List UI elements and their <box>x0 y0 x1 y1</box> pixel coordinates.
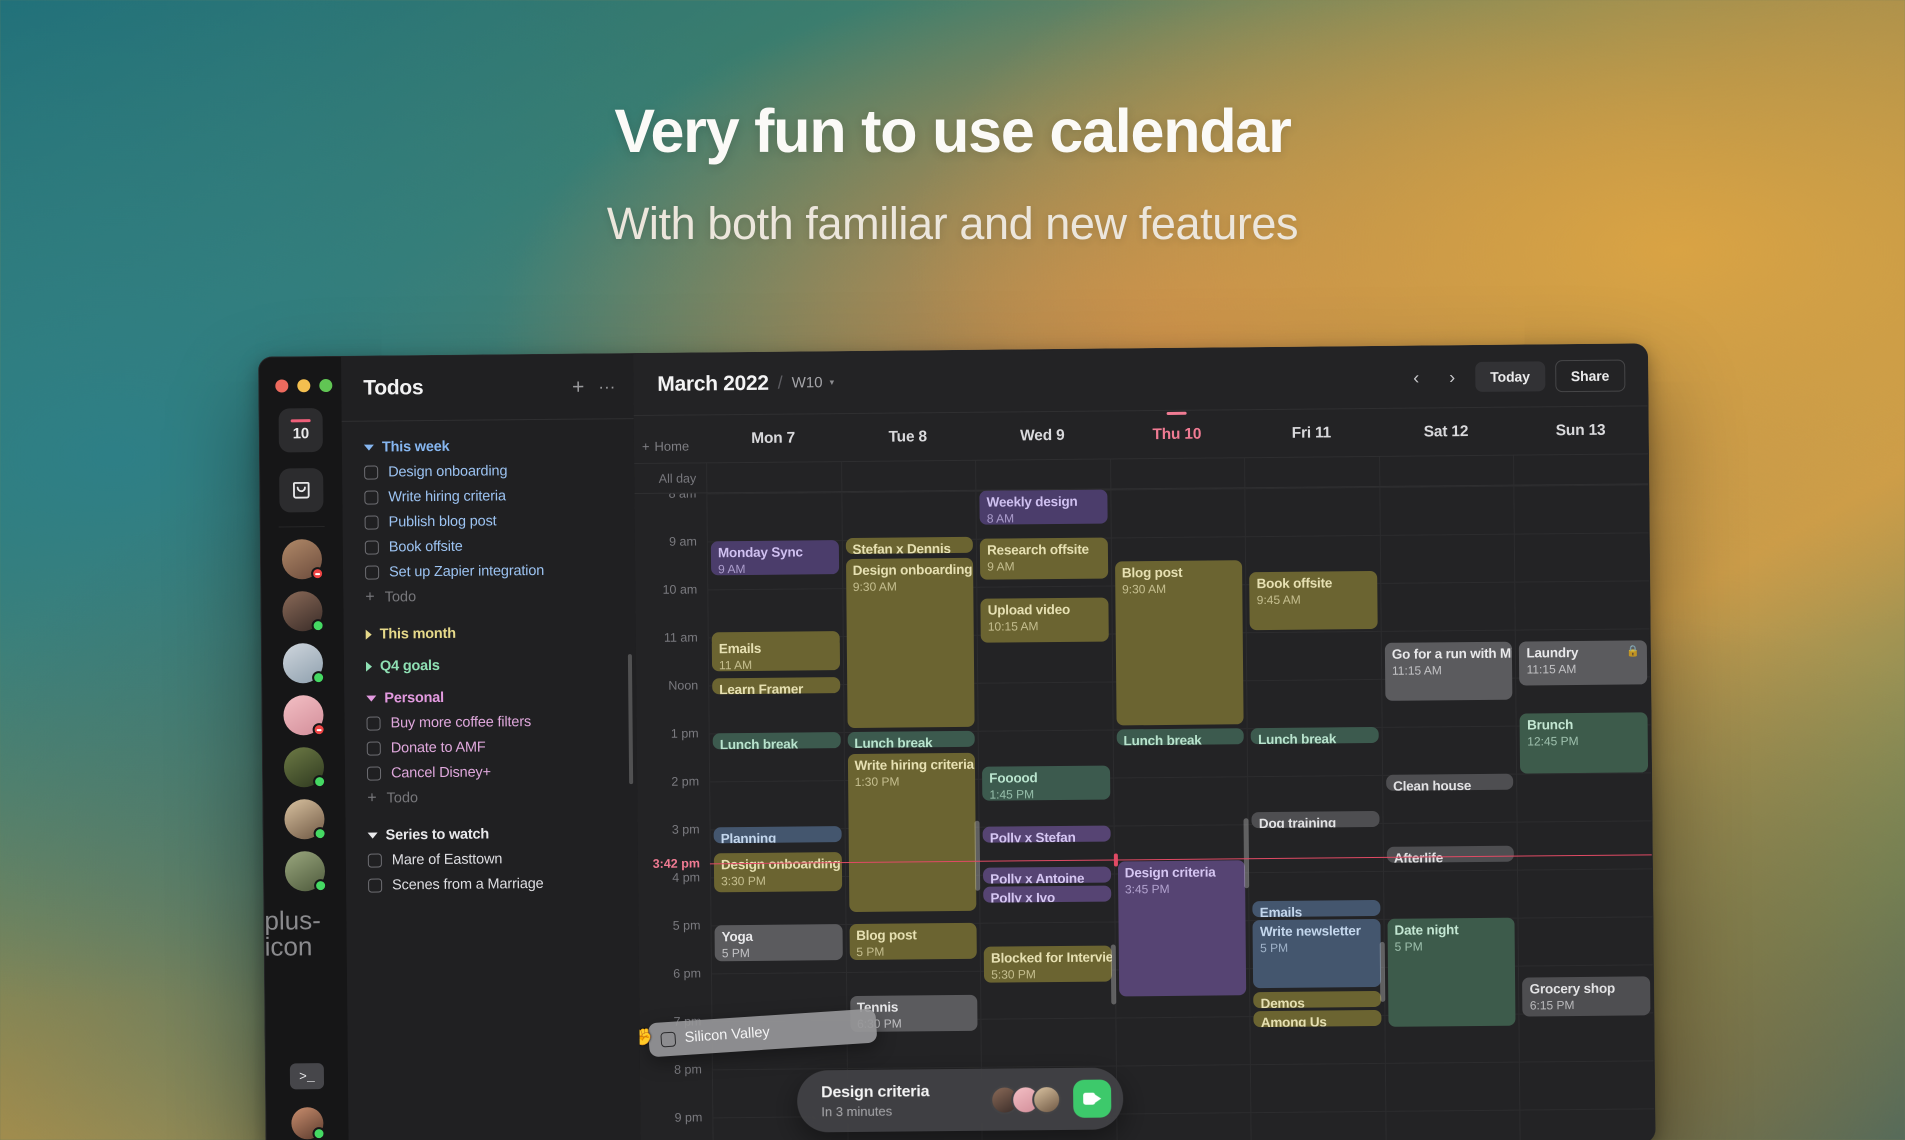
date-tile-bar <box>291 419 311 422</box>
hour-gridline <box>707 492 841 494</box>
day-header-label: Tue 8 <box>888 428 927 445</box>
calendar-toolbar-actions: ‹ › Today Share <box>1403 359 1625 393</box>
hour-gridline <box>1117 1064 1251 1066</box>
calendar-event[interactable]: Stefan x Dennis <box>845 536 973 553</box>
event-title: Brunch <box>1527 716 1641 733</box>
calendar-event[interactable]: Polly x Ivo <box>983 886 1111 903</box>
event-title: Learn Framer <box>719 681 833 694</box>
event-title: Monday Sync <box>718 544 832 561</box>
todos-more-button[interactable]: ··· <box>598 378 615 395</box>
calendar-event[interactable]: Blog post9:30 AM <box>1115 560 1244 725</box>
event-time: 9:30 AM <box>1122 581 1236 596</box>
todo-checkbox[interactable] <box>368 878 382 892</box>
minimize-window-button[interactable] <box>297 379 310 392</box>
event-time: 5 PM <box>722 945 836 960</box>
calendar-event[interactable]: Demos <box>1253 991 1381 1008</box>
hour-gridline <box>1521 1108 1655 1110</box>
todo-checkbox[interactable] <box>364 465 378 479</box>
hour-gridline <box>1384 870 1518 872</box>
hero-section: Very fun to use calendar With both famil… <box>0 96 1905 250</box>
hour-gridline <box>1519 964 1653 966</box>
event-title: Dog training <box>1259 815 1373 828</box>
presence-online-badge <box>314 879 327 892</box>
calendar-event[interactable]: Learn Framer <box>712 677 840 694</box>
day-header-sun[interactable]: Sun 13 <box>1513 421 1648 440</box>
todo-group-header[interactable]: Q4 goals <box>366 656 626 674</box>
calendar-gutter-header: + Home <box>634 424 706 454</box>
hour-gridline <box>1516 628 1650 630</box>
day-column[interactable]: Weekly design8 AMResearch offsite9 AMUpl… <box>976 489 1117 1140</box>
event-time: 5:30 PM <box>991 966 1105 981</box>
hour-gridline <box>847 971 981 973</box>
event-title: Demos <box>1261 995 1375 1008</box>
hour-gridline <box>1386 1110 1520 1112</box>
calendar-toolbar: March 2022 / W10 ▾ ‹ › Today Share <box>633 344 1648 416</box>
todo-group-header[interactable]: This week <box>364 437 624 455</box>
event-time: 12:45 PM <box>1527 733 1641 748</box>
event-time: 3:45 PM <box>1125 881 1239 896</box>
day-column[interactable]: Go for a run with Mike11:15 AMClean hous… <box>1379 486 1520 1140</box>
hour-gridline <box>1248 775 1382 777</box>
add-todo-label: Todo <box>385 589 417 605</box>
hour-gridline <box>1386 1062 1520 1064</box>
event-time: 5 PM <box>1260 940 1374 955</box>
calendar-date-tile[interactable]: 10 <box>279 408 323 452</box>
hour-gridline <box>1247 679 1381 681</box>
calendar-event[interactable]: Lunch break <box>713 732 841 749</box>
avatar[interactable] <box>284 799 324 839</box>
todo-group-header[interactable]: This month <box>366 624 626 642</box>
todo-checkbox[interactable] <box>365 540 379 554</box>
hour-gridline <box>982 1017 1116 1019</box>
column-scrollbar[interactable] <box>975 821 981 891</box>
today-marker <box>1167 411 1187 415</box>
todo-group-label: This month <box>380 626 456 643</box>
hour-gridline <box>1380 486 1514 488</box>
event-time: 11:15 AM <box>1392 663 1506 678</box>
day-header-thu-today[interactable]: Thu 10 <box>1109 425 1244 444</box>
time-label: 9 am <box>669 534 697 548</box>
calendar-event[interactable]: Design onboarding9:30 AM <box>846 558 975 728</box>
calendar-event[interactable]: Planning <box>714 826 842 843</box>
event-title: Blocked for Interviews <box>991 950 1105 967</box>
hour-gridline <box>1516 580 1650 582</box>
time-label: 6 pm <box>673 966 701 980</box>
toast-attendees <box>998 1084 1061 1114</box>
hour-gridline <box>1246 535 1380 537</box>
calendar-pane: March 2022 / W10 ▾ ‹ › Today Share + Hom… <box>633 344 1655 1140</box>
day-header-fri[interactable]: Fri 11 <box>1244 423 1379 442</box>
avatar[interactable] <box>291 1107 323 1139</box>
time-label: 2 pm <box>671 774 699 788</box>
event-time: 1:45 PM <box>989 787 1103 801</box>
todos-list: This week Design onboarding Write hiring… <box>342 419 641 1140</box>
calendar-event[interactable]: Design criteria3:45 PM <box>1118 860 1247 996</box>
hour-gridline <box>1111 488 1245 490</box>
todo-item[interactable]: Buy more coffee filters <box>366 708 626 735</box>
event-title: Polly x Stefan <box>990 830 1104 843</box>
todo-item[interactable]: Write hiring criteria <box>364 482 624 509</box>
todo-item[interactable]: Set up Zapier integration <box>365 557 625 584</box>
event-title: Fooood <box>989 770 1103 787</box>
calendar-event[interactable]: Weekly design8 AM <box>980 490 1108 525</box>
todo-label: Set up Zapier integration <box>389 562 544 579</box>
event-time: 9 AM <box>987 559 1101 574</box>
next-week-button[interactable]: › <box>1439 368 1465 386</box>
event-time: 11:15 AM <box>1526 661 1640 676</box>
todo-item[interactable]: Cancel Disney+ <box>367 758 627 785</box>
hour-gridline <box>1383 822 1517 824</box>
calendar-event[interactable]: Fooood1:45 PM <box>982 766 1110 801</box>
icon-rail: 10 plus-icon <box>259 357 349 1140</box>
all-day-cell[interactable] <box>706 462 841 492</box>
todo-label: Design onboarding <box>388 463 507 480</box>
chip-label: Silicon Valley <box>684 1025 770 1047</box>
page-title: March 2022 <box>657 371 769 396</box>
hour-gridline <box>1251 1063 1385 1065</box>
time-label: 8 pm <box>674 1062 702 1076</box>
event-time: 9:45 AM <box>1257 592 1371 607</box>
join-call-button[interactable] <box>1073 1080 1111 1118</box>
hour-gridline <box>978 681 1112 683</box>
hour-gridline <box>1382 630 1516 632</box>
upcoming-event-toast[interactable]: Design criteria In 3 minutes <box>797 1067 1124 1132</box>
maximize-window-button[interactable] <box>319 379 332 392</box>
todo-checkbox[interactable] <box>365 565 379 579</box>
todo-group-header[interactable]: Series to watch <box>368 825 628 843</box>
time-label: 4 pm <box>672 870 700 884</box>
rail-bottom-group: >_ <box>266 1063 349 1140</box>
plus-icon: + <box>365 590 374 606</box>
share-button[interactable]: Share <box>1555 359 1626 392</box>
hero-subtitle: With both familiar and new features <box>0 198 1905 250</box>
event-title: Design onboarding <box>721 856 835 873</box>
all-day-cell[interactable] <box>1379 456 1514 486</box>
window-controls[interactable] <box>275 379 332 393</box>
event-title: Design onboarding <box>853 562 967 579</box>
event-time: 6:15 PM <box>1530 997 1644 1012</box>
calendar-event[interactable]: Emails11 AM <box>712 636 840 671</box>
calendar-event[interactable]: Design onboarding3:30 PM <box>714 852 842 892</box>
presence-online-badge <box>312 671 325 684</box>
event-title: Stefan x Dennis <box>852 540 966 553</box>
hour-gridline <box>712 972 846 974</box>
todo-group-header[interactable]: Personal <box>366 688 626 706</box>
calendar-event[interactable]: Write newsletter5 PM <box>1253 919 1381 988</box>
presence-online-badge <box>313 775 326 788</box>
chevron-down-icon[interactable]: ▾ <box>830 377 835 388</box>
plus-icon[interactable]: + <box>642 439 650 454</box>
toast-subtitle: In 3 minutes <box>821 1103 929 1119</box>
plus-icon: + <box>367 791 376 807</box>
event-title: Book offsite <box>1256 575 1370 592</box>
event-time: 9:30 AM <box>853 579 967 594</box>
hour-gridline <box>981 921 1115 923</box>
calendar-event[interactable]: Blocked for Interviews5:30 PM <box>984 946 1112 984</box>
todo-checkbox[interactable] <box>366 716 380 730</box>
add-todo-row[interactable]: +Todo <box>365 582 625 610</box>
day-header-label: Sun 13 <box>1556 421 1606 438</box>
hour-gridline <box>708 588 842 590</box>
hour-gridline <box>1518 868 1652 870</box>
all-day-label: All day <box>634 471 706 486</box>
time-label: 10 am <box>662 582 697 596</box>
toast-title: Design criteria <box>821 1083 929 1102</box>
all-day-cell[interactable] <box>1110 458 1245 488</box>
today-button[interactable]: Today <box>1475 361 1545 392</box>
todo-label: Cancel Disney+ <box>391 764 491 781</box>
todo-checkbox[interactable] <box>367 741 381 755</box>
event-time: 11 AM <box>719 657 833 671</box>
hour-gridline <box>1383 726 1517 728</box>
avatar[interactable] <box>285 851 325 891</box>
day-column[interactable]: Laundry11:15 AM🔒Brunch12:45 PMGrocery sh… <box>1514 484 1655 1140</box>
todo-label: Buy more coffee filters <box>390 714 531 731</box>
current-time-label: 3:42 pm <box>653 856 700 870</box>
event-title: Lunch break <box>720 736 834 749</box>
presence-busy-badge <box>313 723 326 736</box>
day-header-tue[interactable]: Tue 8 <box>840 427 975 446</box>
day-header-label: Wed 9 <box>1020 426 1065 443</box>
day-header-label: Fri 11 <box>1292 424 1331 441</box>
terminal-icon[interactable]: >_ <box>290 1063 324 1089</box>
day-column[interactable]: Blog post9:30 AMLunch breakDesign criter… <box>1110 488 1251 1140</box>
event-title: Polly x Ivo <box>990 890 1104 903</box>
hour-gridline <box>977 585 1111 587</box>
event-title: Emails <box>1260 904 1374 917</box>
hour-gridline <box>1249 871 1383 873</box>
calendar-grid: 8 am9 am10 am11 amNoon1 pm2 pm3 pm4 pm5 … <box>634 484 1654 1140</box>
hour-gridline <box>1252 1111 1386 1113</box>
chip-checkbox[interactable] <box>660 1031 676 1047</box>
date-tile-number: 10 <box>293 425 309 442</box>
all-day-cell[interactable] <box>1514 454 1649 484</box>
calendar-event[interactable]: Lunch break <box>1116 728 1244 745</box>
hour-gridline <box>1117 1112 1251 1114</box>
todo-checkbox[interactable] <box>367 766 381 780</box>
todo-item[interactable]: Mare of Easttown <box>368 845 628 872</box>
event-time: 5 PM <box>856 944 970 959</box>
time-label: 5 pm <box>673 918 701 932</box>
inbox-icon[interactable] <box>279 468 323 512</box>
calendar-event[interactable]: Polly x Antoine <box>983 866 1111 883</box>
day-header-label: Thu 10 <box>1152 425 1201 442</box>
event-time: 9 AM <box>718 561 832 575</box>
day-header-label: Mon 7 <box>751 429 795 446</box>
title-separator: / <box>778 373 783 394</box>
event-title: Blog post <box>1122 564 1236 581</box>
calendar-event[interactable]: Write hiring criteria1:30 PM <box>847 752 976 912</box>
add-todo-label: Todo <box>387 790 419 806</box>
current-time-dot <box>1114 853 1118 866</box>
calendar-event[interactable]: Upload video10:15 AM <box>981 598 1109 643</box>
event-title: Write hiring criteria <box>854 756 968 773</box>
calendar-event[interactable]: Research offsite9 AM <box>980 538 1108 580</box>
rail-divider <box>279 526 325 527</box>
calendar-event[interactable]: Book offsite9:45 AM <box>1249 571 1377 630</box>
event-title: Grocery shop <box>1530 980 1644 997</box>
home-calendar-selector[interactable]: + Home <box>634 438 706 454</box>
calendar-event[interactable]: Grocery shop6:15 PM <box>1523 976 1651 1016</box>
event-title: Upload video <box>988 602 1102 619</box>
event-time: 3:30 PM <box>721 873 835 888</box>
hero-title: Very fun to use calendar <box>0 96 1905 166</box>
todos-title: Todos <box>363 375 558 401</box>
todos-sidebar: Todos + ··· This week Design onboarding … <box>341 354 641 1140</box>
event-time: 10:15 AM <box>988 619 1102 634</box>
close-window-button[interactable] <box>275 379 288 392</box>
hour-gridline <box>1518 820 1652 822</box>
event-title: Clean house <box>1393 778 1507 791</box>
todo-group-label: Q4 goals <box>380 658 440 675</box>
todo-item[interactable]: Book offsite <box>365 532 625 559</box>
event-title: Laundry <box>1526 644 1640 661</box>
calendar-event[interactable]: Polly x Stefan <box>983 826 1111 843</box>
todo-label: Donate to AMF <box>391 739 486 756</box>
calendar-event[interactable]: Clean house <box>1386 774 1514 791</box>
day-header-sat[interactable]: Sat 12 <box>1379 422 1514 441</box>
event-title: Write newsletter <box>1260 923 1374 940</box>
hour-gridline <box>710 780 844 782</box>
todo-checkbox[interactable] <box>365 515 379 529</box>
calendar-event[interactable]: Blog post5 PM <box>849 923 977 961</box>
calendar-event[interactable]: Afterlife <box>1387 846 1515 863</box>
presence-online-badge <box>312 1127 325 1140</box>
week-selector-label[interactable]: W10 <box>792 374 823 391</box>
avatar[interactable] <box>283 695 323 735</box>
todo-label: Mare of Easttown <box>392 851 503 868</box>
todo-group-label: Series to watch <box>386 826 490 843</box>
event-title: Lunch break <box>1123 732 1237 745</box>
event-title: Research offsite <box>987 542 1101 559</box>
presence-online-badge <box>312 619 325 632</box>
todo-label: Scenes from a Marriage <box>392 875 544 892</box>
calendar-event[interactable]: Go for a run with Mike11:15 AM <box>1385 642 1513 701</box>
event-title: Emails <box>719 640 833 657</box>
hour-gridline <box>1112 536 1246 538</box>
time-label: 9 pm <box>674 1110 702 1124</box>
event-time: 8 AM <box>987 511 1101 525</box>
todo-item[interactable]: Design onboarding <box>364 457 624 484</box>
hour-gridline <box>979 729 1113 731</box>
time-label: 1 pm <box>671 726 699 740</box>
hour-gridline <box>1246 487 1380 489</box>
day-header-mon[interactable]: Mon 7 <box>706 429 841 448</box>
todo-label: Write hiring criteria <box>388 488 506 505</box>
event-time: 5 PM <box>1395 939 1509 954</box>
event-title: Design criteria <box>1125 864 1239 881</box>
avatar[interactable] <box>283 643 323 683</box>
todo-checkbox[interactable] <box>368 853 382 867</box>
event-title: Lunch break <box>1258 731 1372 744</box>
calendar-event[interactable]: Laundry11:15 AM🔒 <box>1519 640 1647 685</box>
hour-gridline <box>1114 824 1248 826</box>
avatar[interactable] <box>1032 1084 1061 1113</box>
add-todo-row[interactable]: +Todo <box>367 783 627 811</box>
calendar-event[interactable]: Dog training <box>1252 811 1380 828</box>
todo-item[interactable]: Publish blog post <box>365 507 625 534</box>
column-scrollbar[interactable] <box>1380 942 1386 1002</box>
calendar-event[interactable]: Emails <box>1253 900 1381 917</box>
chevron-right-icon[interactable] <box>366 630 372 640</box>
calendar-event[interactable]: Monday Sync9 AM <box>711 540 839 575</box>
column-scrollbar[interactable] <box>1244 818 1250 888</box>
calendar-event[interactable]: Lunch break <box>847 731 975 748</box>
calendar-event[interactable]: Brunch12:45 PM <box>1520 712 1648 774</box>
avatar[interactable] <box>284 747 324 787</box>
event-time: 1:30 PM <box>855 773 969 788</box>
event-title: Date night <box>1394 922 1508 939</box>
event-title: Among Us <box>1261 1014 1375 1027</box>
chevron-down-icon[interactable] <box>366 696 376 702</box>
event-title: Lunch break <box>854 735 968 748</box>
time-label: Noon <box>668 678 698 692</box>
todo-label: Book offsite <box>389 538 463 555</box>
column-scrollbar[interactable] <box>1111 944 1117 1004</box>
hour-gridline <box>1116 1016 1250 1018</box>
todo-item[interactable]: Donate to AMF <box>367 733 627 760</box>
day-column[interactable]: Book offsite9:45 AMLunch breakDog traini… <box>1245 487 1386 1140</box>
all-day-cell[interactable] <box>1244 457 1379 487</box>
app-window: 10 plus-icon <box>258 343 1656 1140</box>
calendar-event[interactable]: Lunch break <box>1251 727 1379 744</box>
time-label: 11 am <box>664 630 698 644</box>
event-title: Blog post <box>856 927 970 944</box>
presence-busy-badge <box>311 567 324 580</box>
event-title: Polly x Antoine <box>990 870 1104 883</box>
todo-item[interactable]: Scenes from a Marriage <box>368 870 628 897</box>
plus-icon[interactable]: plus-icon <box>264 907 346 960</box>
day-header-wed[interactable]: Wed 9 <box>975 426 1110 445</box>
chevron-down-icon[interactable] <box>368 833 378 839</box>
todo-group-label: Personal <box>384 690 444 707</box>
video-camera-icon <box>1083 1093 1101 1105</box>
presence-online-badge <box>314 827 327 840</box>
previous-week-button[interactable]: ‹ <box>1403 368 1429 386</box>
hour-gridline <box>1519 916 1653 918</box>
todo-checkbox[interactable] <box>364 490 378 504</box>
event-title: Planning <box>721 830 835 843</box>
event-title: Go for a run with Mike <box>1392 646 1506 663</box>
toast-text-group: Design criteria In 3 minutes <box>821 1083 930 1119</box>
all-day-cell[interactable] <box>841 461 976 491</box>
event-title: Weekly design <box>987 494 1101 511</box>
hour-gridline <box>1515 532 1649 534</box>
lock-icon: 🔒 <box>1626 645 1640 658</box>
hour-gridline <box>1381 534 1515 536</box>
calendar-event[interactable]: Yoga5 PM <box>715 924 843 962</box>
event-title: Yoga <box>722 928 836 945</box>
hour-gridline <box>1247 631 1381 633</box>
hour-gridline <box>1515 484 1649 486</box>
add-todo-button[interactable]: + <box>572 376 584 397</box>
todo-group-label: This week <box>382 439 450 456</box>
todo-label: Publish blog post <box>389 513 497 530</box>
hour-gridline <box>1381 582 1515 584</box>
chevron-down-icon[interactable] <box>364 445 374 451</box>
avatar[interactable] <box>282 539 322 579</box>
calendar-event[interactable]: Among Us <box>1254 1010 1382 1027</box>
hour-gridline <box>842 491 976 493</box>
calendar-event[interactable]: Date night5 PM <box>1387 918 1516 1028</box>
hour-gridline <box>1114 776 1248 778</box>
avatar[interactable] <box>282 591 322 631</box>
day-header-label: Sat 12 <box>1424 423 1469 440</box>
todos-header: Todos + ··· <box>341 354 633 401</box>
hour-gridline <box>1520 1060 1654 1062</box>
chevron-right-icon[interactable] <box>366 662 372 672</box>
all-day-cell[interactable] <box>975 459 1110 489</box>
